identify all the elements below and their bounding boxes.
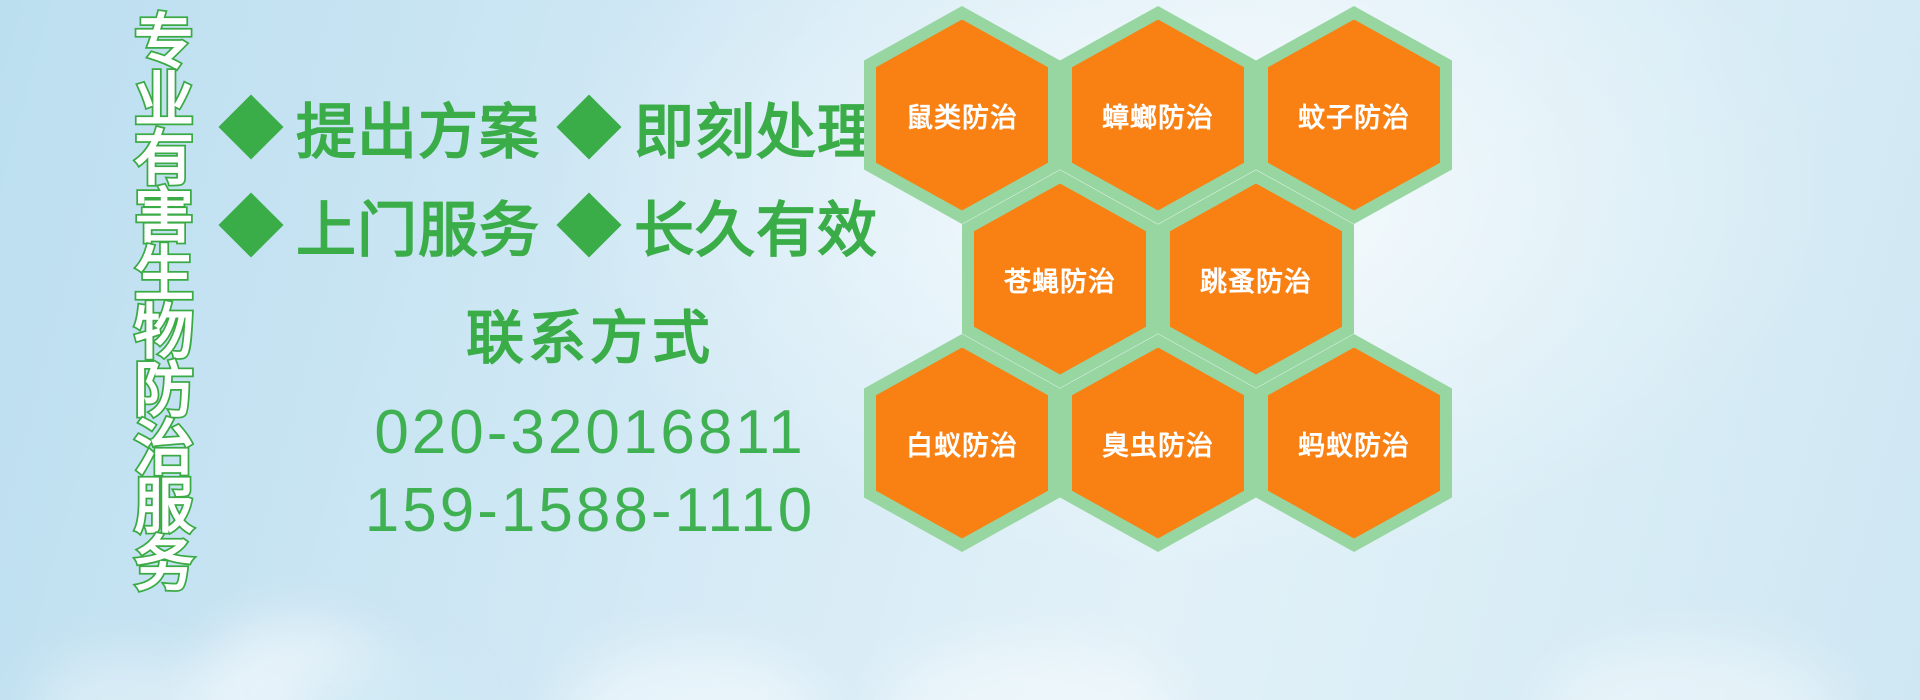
service-hex-label: 苍蝇防治 (1004, 260, 1116, 299)
vertical-headline-char: 服 (134, 478, 194, 536)
background-blur-blob (190, 620, 400, 700)
service-hexagon-grid: 鼠类防治 蟑螂防治 蚊子防治 苍蝇防治 跳蚤防治 白蚁防治 (858, 0, 1478, 700)
vertical-headline-char: 防 (134, 362, 194, 420)
vertical-headline-char: 物 (134, 304, 194, 362)
background-blur-blob (560, 645, 820, 700)
vertical-headline-char: 业 (134, 72, 194, 130)
vertical-headline-char: 害 (134, 188, 194, 246)
feature-row: 上门服务 长久有效 (228, 176, 878, 274)
phone-number-landline[interactable]: 020-32016811 (300, 394, 880, 472)
background-blur-blob (300, 650, 480, 700)
service-hex-label: 蟑螂防治 (1102, 96, 1214, 135)
service-hex-label: 鼠类防治 (906, 96, 1018, 135)
vertical-headline-char: 生 (134, 246, 194, 304)
vertical-headline-char: 专 (134, 14, 194, 72)
vertical-headline-char: 治 (134, 420, 194, 478)
hex-inner: 蚊子防治 (1268, 20, 1440, 211)
hex-inner: 蚂蚁防治 (1268, 348, 1440, 539)
hex-inner: 蟑螂防治 (1072, 20, 1244, 211)
hex-inner: 臭虫防治 (1072, 348, 1244, 539)
feature-list: 提出方案 即刻处理 上门服务 长久有效 (228, 78, 878, 274)
hex-inner: 白蚁防治 (876, 348, 1048, 539)
hex-inner: 跳蚤防治 (1170, 184, 1342, 375)
diamond-icon (556, 94, 621, 159)
pest-control-banner: 专 业 有 害 生 物 防 治 服 务 提出方案 即刻处理 上门服务 长久有效 … (0, 0, 1920, 700)
background-blur-blob (30, 650, 220, 700)
feature-label: 即刻处理 (634, 84, 878, 171)
hex-inner: 苍蝇防治 (974, 184, 1146, 375)
feature-label: 上门服务 (296, 182, 540, 269)
diamond-icon (218, 192, 283, 257)
feature-label: 长久有效 (634, 182, 878, 269)
service-hex-label: 跳蚤防治 (1200, 260, 1312, 299)
phone-number-mobile[interactable]: 159-1588-1110 (300, 472, 880, 550)
diamond-icon (218, 94, 283, 159)
vertical-headline-char: 有 (134, 130, 194, 188)
service-hex-label: 白蚁防治 (906, 424, 1018, 463)
contact-block: 联系方式 020-32016811 159-1588-1110 (300, 310, 880, 550)
service-hex-label: 蚊子防治 (1298, 96, 1410, 135)
background-blur-blob (1540, 640, 1840, 700)
vertical-headline-char: 务 (134, 536, 194, 594)
vertical-headline: 专 业 有 害 生 物 防 治 服 务 (112, 14, 216, 594)
feature-label: 提出方案 (296, 84, 540, 171)
service-hex-label: 蚂蚁防治 (1298, 424, 1410, 463)
feature-row: 提出方案 即刻处理 (228, 78, 878, 176)
service-hex-label: 臭虫防治 (1102, 424, 1214, 463)
diamond-icon (556, 192, 621, 257)
hex-inner: 鼠类防治 (876, 20, 1048, 211)
contact-title: 联系方式 (300, 310, 880, 368)
